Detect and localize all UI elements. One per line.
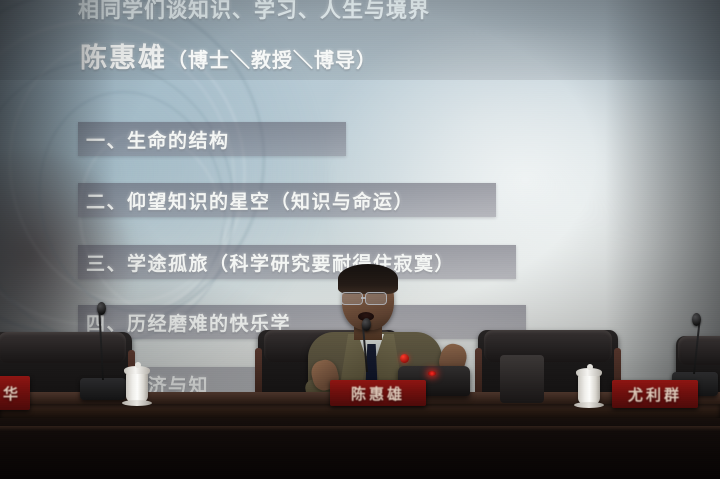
- slide-bullet-1: 一、 生命的结构: [78, 122, 346, 156]
- slide-bullet-1-index: 一、: [86, 126, 127, 153]
- microphone-head-left: [97, 302, 106, 315]
- teacup-left: [126, 372, 148, 402]
- microphone-head-right: [692, 313, 701, 326]
- slide-title-line-1: 相同学们谈知识、学习、人生与境界: [78, 0, 430, 24]
- nameplate-left: 华: [0, 376, 30, 410]
- eyeglasses-lens-left: [341, 292, 363, 305]
- desk-equipment-right: [500, 355, 544, 403]
- slide-speaker-line: 陈惠雄（博士＼教授＼博导）: [80, 36, 377, 75]
- teacup-saucer: [122, 400, 152, 406]
- conference-photo: 相同学们谈知识、学习、人生与境界 陈惠雄（博士＼教授＼博导） 一、 生命的结构 …: [0, 0, 720, 479]
- nameplate-middle: 陈惠雄: [330, 380, 426, 406]
- speaker-hair: [338, 264, 398, 294]
- teacup-lid-knob: [135, 362, 141, 368]
- table-wood-rail-secondary: [0, 426, 720, 431]
- slide-speaker-name: 陈惠雄: [80, 43, 167, 74]
- teacup-right: [578, 374, 600, 404]
- slide-bullet-2: 二、 仰望知识的星空（知识与命运）: [78, 183, 496, 217]
- eyeglasses-bridge: [361, 297, 366, 299]
- slide-bullet-1-text: 生命的结构: [127, 126, 230, 153]
- slide-bullet-2-text: 仰望知识的星空（知识与命运）: [127, 187, 414, 214]
- red-lapel-pin-icon: [400, 354, 409, 363]
- nameplate-right: 尤利群: [612, 380, 698, 408]
- nameplate-right-text: 尤利群: [628, 384, 682, 405]
- teacup-saucer: [574, 402, 604, 408]
- teacup-lid-knob: [587, 364, 593, 370]
- slide-speaker-credentials: （博士＼教授＼博导）: [167, 48, 377, 72]
- slide-bullet-2-index: 二、: [86, 187, 127, 214]
- microphone-led-indicator-icon: [428, 371, 436, 376]
- microphone-base-left: [80, 378, 126, 400]
- microphone-head-speaker: [362, 318, 371, 331]
- chair-headrest: [0, 332, 126, 363]
- nameplate-middle-text: 陈惠雄: [351, 383, 405, 404]
- nameplate-left-text: 华: [3, 383, 21, 404]
- conference-table-front: [0, 404, 720, 479]
- slide-bullet-3-index: 三、: [86, 249, 127, 276]
- chair-headrest: [678, 336, 720, 365]
- eyeglasses-lens-right: [365, 292, 387, 305]
